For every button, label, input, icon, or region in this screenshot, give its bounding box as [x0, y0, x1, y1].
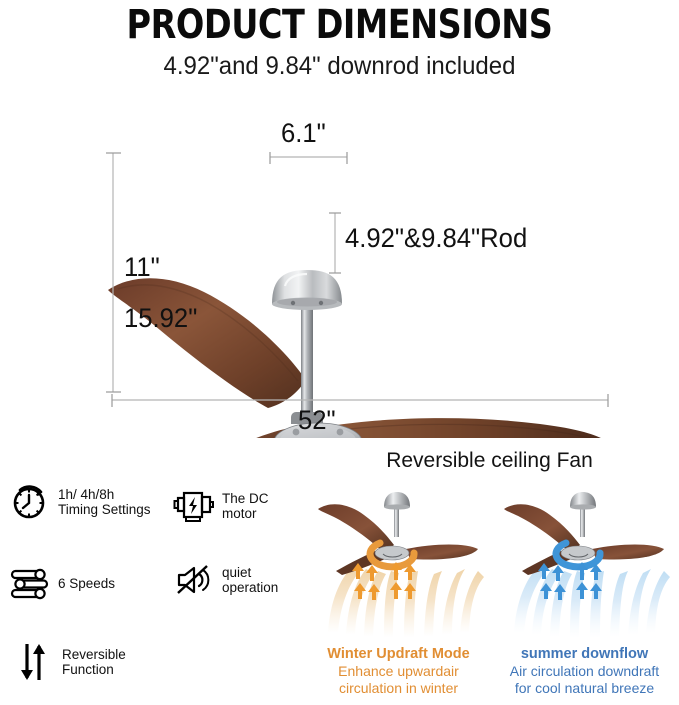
summer-mode-title: summer downflow [492, 646, 677, 662]
feature-timing: 1h/ 4h/8h Timing Settings [8, 480, 151, 524]
feature-timing-label: 1h/ 4h/8h Timing Settings [58, 487, 151, 518]
feature-dc-motor-label: The DC motor [222, 491, 304, 522]
feature-list: 1h/ 4h/8h Timing Settings The DC motor [4, 474, 304, 702]
timer-clock-icon [8, 480, 52, 524]
feature-speeds-label: 6 Speeds [58, 576, 115, 592]
reversible-arrows-icon [12, 640, 56, 684]
feature-quiet: quiet operation [172, 558, 278, 602]
feature-reversible-label: Reversible Function [62, 647, 126, 678]
downrod [301, 304, 313, 418]
dim-height-total-label: 15.92" [124, 303, 197, 334]
reversible-heading: Reversible ceiling Fan [300, 449, 679, 473]
dim-height-blade-label: 11" [124, 252, 160, 283]
ceiling-fan-illustration [0, 108, 679, 438]
page-subtitle: 4.92"and 9.84" downrod included [14, 52, 666, 81]
feature-dc-motor: The DC motor [172, 484, 304, 528]
summer-airflow-streams [514, 567, 670, 638]
page-title: PRODUCT DIMENSIONS [24, 2, 655, 48]
mode-summer: summer downflow Air circulation downdraf… [492, 483, 677, 705]
mode-winter: Winter Updraft Mode Enhance upwardair ci… [306, 483, 491, 705]
dim-rod-label: 4.92"&9.84"Rod [345, 223, 527, 254]
dc-motor-icon [172, 484, 216, 528]
summer-mode-body: Air circulation downdraft for cool natur… [492, 663, 677, 696]
winter-airflow-streams [328, 567, 484, 638]
fan-dimension-diagram: 6.1" 4.92"&9.84"Rod 11" 15.92" 52" [0, 108, 679, 438]
fan-blade-right [330, 418, 610, 438]
feature-quiet-label: quiet operation [222, 565, 278, 596]
speed-slider-icon [8, 562, 52, 606]
feature-speeds: 6 Speeds [8, 562, 115, 606]
mute-speaker-icon [172, 558, 216, 602]
winter-mode-body: Enhance upwardair circulation in winter [306, 663, 491, 696]
dim-span-label: 52" [298, 405, 336, 436]
product-dimensions-infographic: PRODUCT DIMENSIONS 4.92"and 9.84" downro… [0, 0, 679, 705]
dim-canopy-width-label: 6.1" [281, 118, 326, 149]
feature-reversible: Reversible Function [12, 640, 126, 684]
winter-fan-illustration [306, 483, 491, 643]
summer-fan-illustration [492, 483, 677, 643]
winter-mode-title: Winter Updraft Mode [306, 646, 491, 662]
